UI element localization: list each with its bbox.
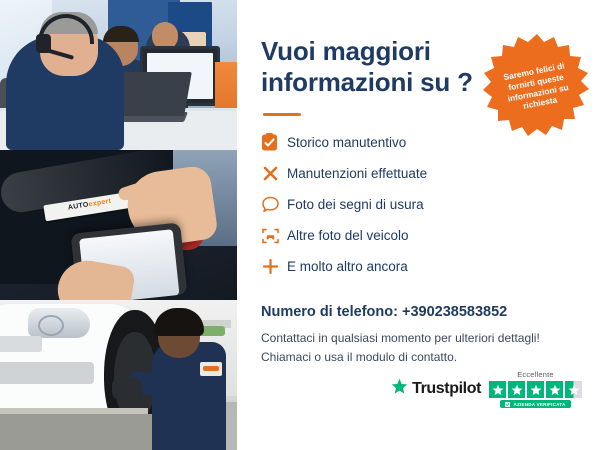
badge-content: Saremo felici di fornirti queste informa… <box>473 23 600 152</box>
laptop-screen <box>114 72 192 116</box>
list-item-label: Storico manutentivo <box>287 135 406 150</box>
star-half <box>565 381 582 398</box>
list-item-label: Altre foto del veicolo <box>287 228 409 243</box>
vehicle-inspection-photo: AUTOexpert <box>0 150 237 300</box>
plus-icon <box>261 257 287 276</box>
list-item-label: E molto altro ancora <box>287 259 408 274</box>
star-filled <box>508 381 525 398</box>
badge-text: Saremo felici di fornirti queste informa… <box>492 58 583 116</box>
uniform-logo-patch <box>200 362 222 376</box>
list-item-manutenzioni: Manutenzioni effettuate <box>261 160 578 187</box>
trustpilot-star-icon <box>391 378 408 400</box>
verified-badge: AZIENDA VERIFICATA <box>500 400 570 408</box>
trustpilot-logo: Trustpilot <box>391 378 481 400</box>
rating-label: Eccellente <box>517 370 554 379</box>
phone-number[interactable]: Numero di telefono: +390238583852 <box>261 304 578 320</box>
list-item-altro-ancora: E molto altro ancora <box>261 253 578 280</box>
lower-grille <box>0 362 94 384</box>
trustpilot-rating: Eccellente AZIENDA VERIFICATA <box>489 370 582 408</box>
feature-list: Storico manutentivo Manutenzioni effettu… <box>261 129 578 280</box>
star-filled <box>489 381 506 398</box>
contact-text: Contattaci in qualsiasi momento per ulte… <box>261 329 578 366</box>
star-rating <box>489 381 582 398</box>
star-filled <box>546 381 563 398</box>
workshop-wheel-photo <box>0 300 237 450</box>
promo-banner: AUTOexpert Vuo <box>0 0 600 450</box>
speech-bubble-icon <box>261 196 287 214</box>
list-item-label: Manutenzioni effettuate <box>287 166 427 181</box>
verified-label: AZIENDA VERIFICATA <box>513 402 565 407</box>
photo-column: AUTOexpert <box>0 0 237 450</box>
list-item-altre-foto: Altre foto del veicolo <box>261 222 578 249</box>
crossed-tools-icon <box>261 164 287 183</box>
star-filled <box>527 381 544 398</box>
contact-line-2: Chiamaci o usa il modulo di contatto. <box>261 348 578 367</box>
trustpilot-wordmark: Trustpilot <box>412 380 481 398</box>
callout-badge: Saremo felici di fornirti queste informa… <box>482 32 592 142</box>
content-panel: Vuoi maggiori informazioni su ? Storico … <box>237 0 600 450</box>
trustpilot-widget[interactable]: Trustpilot Eccellente AZIENDA VERIFICATA <box>391 370 582 408</box>
call-center-photo <box>0 0 237 150</box>
scan-vehicle-icon <box>261 227 287 245</box>
title-divider <box>263 113 301 116</box>
list-item-label: Foto dei segni di usura <box>287 197 424 212</box>
lift-platform <box>0 414 160 450</box>
headlight <box>28 308 90 338</box>
contact-line-1: Contattaci in qualsiasi momento per ulte… <box>261 329 578 348</box>
list-item-foto-usura: Foto dei segni di usura <box>261 191 578 218</box>
mechanic-glove <box>112 378 142 400</box>
verified-check-icon <box>505 402 510 407</box>
clipboard-check-icon <box>261 133 287 152</box>
sticker-label: AUTOexpert <box>68 198 112 212</box>
upper-grille <box>0 336 42 352</box>
